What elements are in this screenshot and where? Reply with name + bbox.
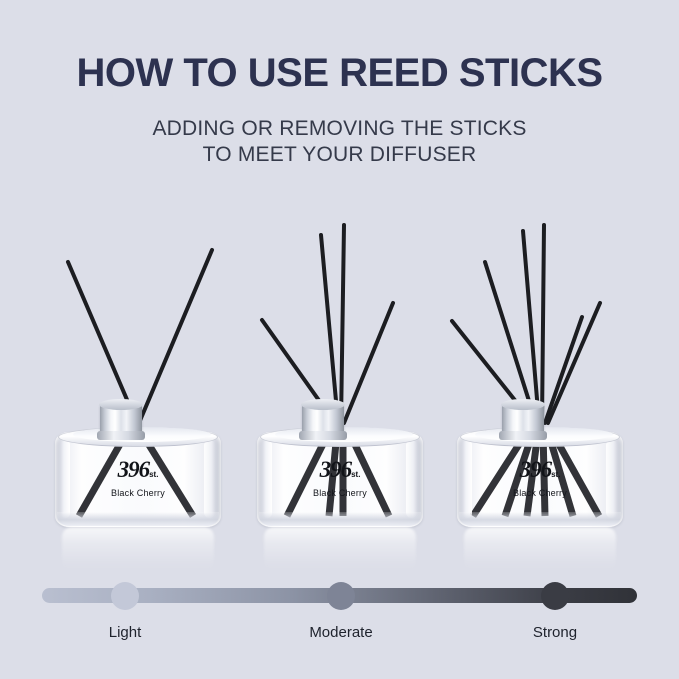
reed-stick-infographic: HOW TO USE REED STICKS ADDING OR REMOVIN… bbox=[0, 0, 679, 679]
glass-highlight-right bbox=[406, 440, 417, 518]
bottle-reflection bbox=[62, 527, 214, 573]
bottle-reflection bbox=[264, 527, 416, 573]
slider-label-strong: Strong bbox=[485, 624, 625, 641]
diffuser-strong: 396st. Black Cherry bbox=[440, 225, 640, 565]
sticks-above-bottle bbox=[68, 250, 212, 423]
bottle-base bbox=[459, 512, 621, 526]
sticks-above-bottle bbox=[452, 225, 600, 423]
slider-knob-moderate[interactable] bbox=[327, 582, 355, 610]
glass-highlight-left bbox=[463, 440, 472, 518]
header: HOW TO USE REED STICKS ADDING OR REMOVIN… bbox=[0, 0, 679, 167]
cap-top bbox=[501, 399, 545, 410]
cap-top bbox=[301, 399, 345, 410]
diffuser-moderate: 396st. Black Cherry bbox=[240, 225, 440, 565]
glass-highlight-left bbox=[263, 440, 272, 518]
slider-label-light: Light bbox=[55, 624, 195, 641]
diffuser-light: 396st. Black Cherry bbox=[38, 225, 238, 565]
bottle-cap bbox=[302, 403, 344, 437]
bottle-base bbox=[259, 512, 421, 526]
slider-label-moderate: Moderate bbox=[271, 624, 411, 641]
bottle-cap bbox=[100, 403, 142, 437]
sticks-above-bottle bbox=[262, 225, 393, 423]
cap-lip bbox=[499, 431, 547, 440]
cap-lip bbox=[97, 431, 145, 440]
diffuser-bottle: 396st. Black Cherry bbox=[55, 432, 221, 527]
bottle-base bbox=[57, 512, 219, 526]
glass-highlight-right bbox=[204, 440, 215, 518]
diffuser-bottle: 396st. Black Cherry bbox=[457, 432, 623, 527]
cap-top bbox=[99, 399, 143, 410]
glass-highlight-right bbox=[606, 440, 617, 518]
cap-lip bbox=[299, 431, 347, 440]
glass-highlight-left bbox=[61, 440, 70, 518]
page-subtitle: ADDING OR REMOVING THE STICKS TO MEET YO… bbox=[0, 94, 679, 167]
page-title: HOW TO USE REED STICKS bbox=[0, 0, 679, 94]
intensity-slider[interactable]: Light Moderate Strong bbox=[0, 580, 679, 660]
bottle-reflection bbox=[464, 527, 616, 573]
slider-knob-light[interactable] bbox=[111, 582, 139, 610]
diffuser-group: 396st. Black Cherry bbox=[0, 225, 679, 565]
subtitle-line-2: TO MEET YOUR DIFFUSER bbox=[0, 142, 679, 168]
slider-knob-strong[interactable] bbox=[541, 582, 569, 610]
bottle-cap bbox=[502, 403, 544, 437]
diffuser-bottle: 396st. Black Cherry bbox=[257, 432, 423, 527]
subtitle-line-1: ADDING OR REMOVING THE STICKS bbox=[0, 116, 679, 142]
